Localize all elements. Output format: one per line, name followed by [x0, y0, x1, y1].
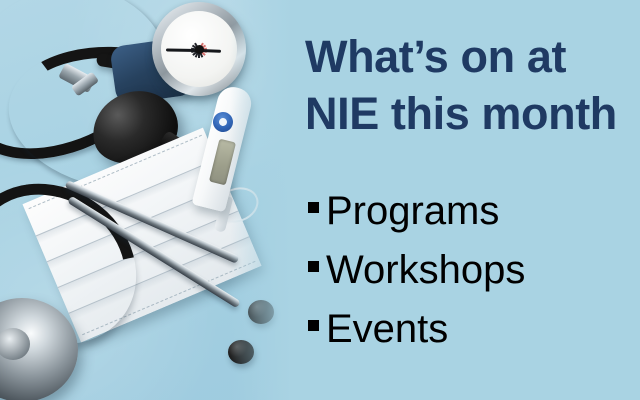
square-bullet-icon [308, 320, 319, 331]
bullet-item-workshops: Workshops [308, 241, 525, 300]
bullet-label-events: Events [326, 300, 448, 359]
bullet-item-events: Events [308, 300, 525, 359]
square-bullet-icon [308, 261, 319, 272]
promotional-slide: What’s on at NIE this month Programs Wor… [0, 0, 640, 400]
photo-edge-blend [230, 0, 300, 400]
bullet-label-programs: Programs [326, 182, 499, 241]
medical-equipment-photo [0, 0, 300, 400]
slide-bullet-list: Programs Workshops Events [308, 182, 525, 360]
gauge-dial-face [161, 11, 237, 87]
bullet-item-programs: Programs [308, 182, 525, 241]
square-bullet-icon [308, 202, 319, 213]
slide-headline: What’s on at NIE this month [305, 28, 640, 142]
bullet-label-workshops: Workshops [326, 241, 525, 300]
gauge-hub [195, 45, 204, 54]
headline-line-2: NIE this month [305, 85, 640, 142]
headline-line-1: What’s on at [305, 31, 566, 82]
